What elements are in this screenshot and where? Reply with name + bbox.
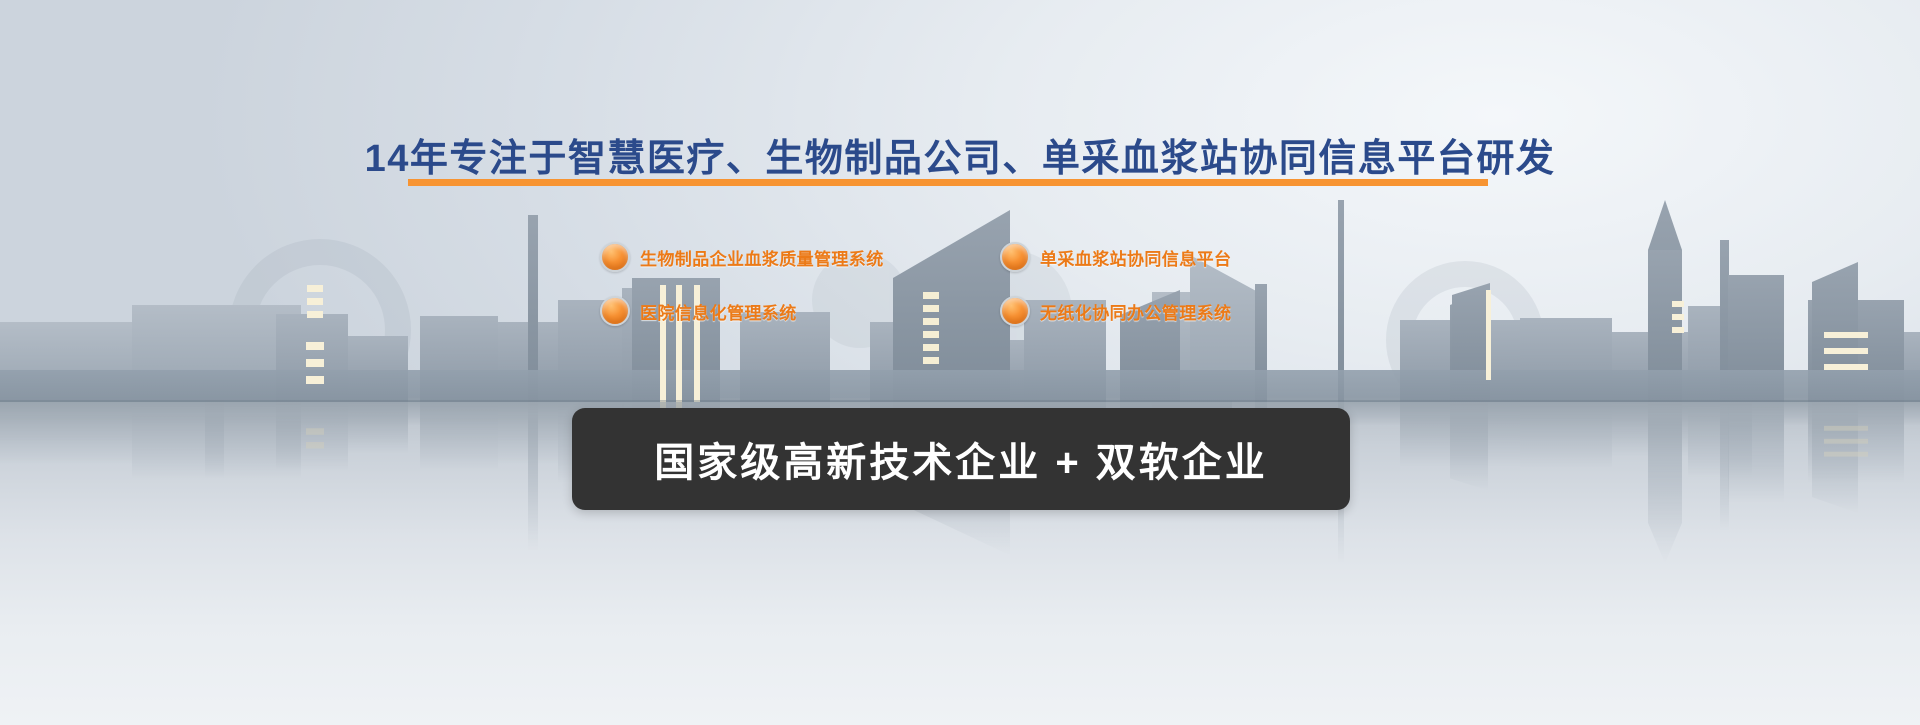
credential-badge: 国家级高新技术企业 + 双软企业 xyxy=(572,408,1350,510)
banner-content: 14年专注于智慧医疗、生物制品公司、单采血浆站协同信息平台研发 生物制品企业血浆… xyxy=(0,0,1920,725)
feature-item-hospital-information[interactable]: 医院信息化管理系统 xyxy=(600,296,1000,326)
feature-label: 生物制品企业血浆质量管理系统 xyxy=(640,245,884,270)
feature-label: 医院信息化管理系统 xyxy=(640,299,797,324)
feature-row: 生物制品企业血浆质量管理系统 单采血浆站协同信息平台 xyxy=(600,230,1320,284)
feature-label: 无纸化协同办公管理系统 xyxy=(1040,299,1231,324)
feature-item-paperless-office[interactable]: 无纸化协同办公管理系统 xyxy=(1000,296,1320,326)
hero-banner: 14年专注于智慧医疗、生物制品公司、单采血浆站协同信息平台研发 生物制品企业血浆… xyxy=(0,0,1920,725)
orange-sphere-bullet-icon xyxy=(600,296,630,326)
feature-label: 单采血浆站协同信息平台 xyxy=(1040,245,1231,270)
page-title: 14年专注于智慧医疗、生物制品公司、单采血浆站协同信息平台研发 xyxy=(0,127,1920,182)
feature-row: 医院信息化管理系统 无纸化协同办公管理系统 xyxy=(600,284,1320,338)
product-feature-list: 生物制品企业血浆质量管理系统 单采血浆站协同信息平台 医院信息化管理系统 无纸化… xyxy=(600,230,1320,338)
feature-item-plasma-station-platform[interactable]: 单采血浆站协同信息平台 xyxy=(1000,242,1320,272)
orange-sphere-bullet-icon xyxy=(600,242,630,272)
feature-item-plasma-quality[interactable]: 生物制品企业血浆质量管理系统 xyxy=(600,242,1000,272)
credential-badge-text: 国家级高新技术企业 + 双软企业 xyxy=(654,430,1268,488)
orange-sphere-bullet-icon xyxy=(1000,296,1030,326)
headline-underline-rule xyxy=(408,179,1488,186)
orange-sphere-bullet-icon xyxy=(1000,242,1030,272)
